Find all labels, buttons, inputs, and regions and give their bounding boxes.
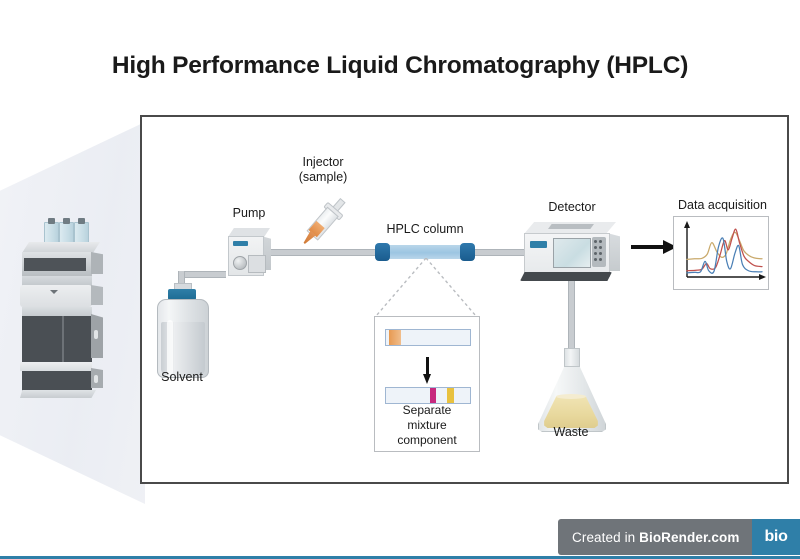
detector-screen (553, 238, 591, 268)
label-data-acquisition: Data acquisition (665, 198, 780, 213)
stack-solvent-bottles (44, 218, 88, 244)
flow-arrow-to-data (631, 240, 679, 254)
callout-dashed-lines (374, 258, 478, 318)
stack-module-8-handle (94, 375, 98, 383)
label-waste: Waste (521, 425, 621, 440)
stack-module-4 (20, 285, 92, 307)
attribution-text: Created in BioRender.com (558, 530, 739, 545)
label-separate-mixture: Separate mixture component (375, 403, 479, 448)
detector-keypad (592, 237, 606, 267)
magenta-component-band (430, 388, 437, 403)
stack-module-8 (22, 371, 92, 391)
solvent-bottle (155, 283, 209, 376)
stack-module-7 (20, 362, 92, 371)
label-hplc-column: HPLC column (370, 222, 480, 237)
attribution-prefix: Created in (572, 530, 639, 545)
label-detector: Detector (522, 200, 622, 215)
flow-arrow-line (631, 245, 665, 249)
pump-dial (233, 256, 247, 270)
waste-liquid-meniscus (556, 394, 586, 399)
pump-module (222, 228, 276, 276)
pump-fitting-block (248, 255, 266, 273)
detector-top-slot (548, 224, 594, 229)
hplc-stack-instrument (18, 218, 110, 400)
data-acquisition-chart (673, 216, 769, 290)
stack-base (20, 390, 96, 398)
stack-module-6-handle (94, 330, 98, 339)
separation-arrow-head (423, 374, 431, 384)
solvent-body (157, 299, 209, 378)
tube-solvent-to-pump (180, 271, 226, 278)
chromatogram-svg (674, 217, 768, 289)
separate-mixture-inset: Separate mixture component (374, 316, 480, 452)
yellow-component-band (447, 388, 454, 403)
mixed-sample-band (389, 330, 401, 345)
solvent-highlight (167, 320, 173, 375)
column-strip-after (385, 387, 471, 404)
waste-flask-neck (564, 348, 580, 369)
detector-indicator-strip (530, 241, 547, 248)
stack-module-2-side (91, 252, 103, 274)
tube-detector-to-waste (568, 280, 575, 358)
stack-module-6 (22, 316, 92, 362)
stack-module-2-panel (24, 258, 86, 271)
pump-indicator-strip (233, 241, 248, 246)
detector-base (520, 272, 612, 281)
attribution-brand: BioRender.com (639, 530, 739, 545)
page-title: High Performance Liquid Chromatography (… (0, 52, 800, 80)
stack-module-6-divider (62, 316, 64, 362)
detector-module (520, 222, 624, 284)
label-pump: Pump (199, 206, 299, 221)
biorender-attribution: Created in BioRender.com bio (558, 519, 800, 555)
biorender-logo: bio (752, 519, 800, 555)
column-body (383, 245, 467, 259)
waste-flask (538, 348, 604, 430)
diagram-canvas: High Performance Liquid Chromatography (… (0, 0, 800, 559)
label-solvent: Solvent (132, 370, 232, 385)
separation-arrow (423, 357, 431, 384)
label-injector: Injector (sample) (268, 155, 378, 185)
stack-module-4-side (91, 285, 103, 305)
tube-column-to-detector (470, 249, 526, 256)
column-strip-before (385, 329, 471, 346)
